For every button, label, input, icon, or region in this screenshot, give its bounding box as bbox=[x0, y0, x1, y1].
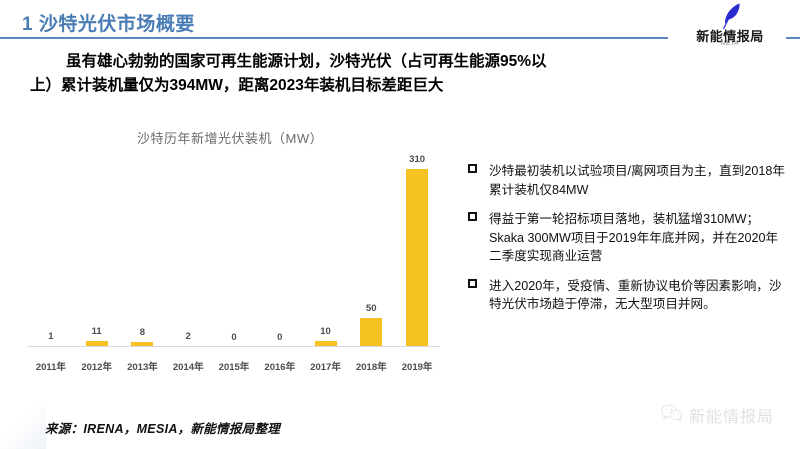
chart-bar bbox=[406, 169, 428, 347]
bar-column: 02016年 bbox=[257, 152, 303, 347]
x-axis-tick-label: 2017年 bbox=[310, 359, 341, 373]
x-axis-tick-label: 2018年 bbox=[356, 359, 387, 373]
insight-bullet-item: 得益于第一轮招标项目落地，装机猛增310MW；Skaka 300MW项目于201… bbox=[468, 210, 786, 266]
bar-column: 22014年 bbox=[165, 152, 211, 347]
square-bullet-icon bbox=[468, 212, 477, 221]
chart-x-axis bbox=[28, 346, 440, 347]
chart-bar bbox=[360, 318, 382, 347]
chart-plot-area: 12011年112012年82013年22014年02015年02016年102… bbox=[28, 152, 440, 347]
bar-value-label: 1 bbox=[48, 331, 53, 342]
bar-value-label: 0 bbox=[277, 332, 282, 343]
bar-value-label: 11 bbox=[92, 326, 102, 337]
source-note: 来源：IRENA，MESIA，新能情报局整理 bbox=[45, 418, 280, 437]
header-rule-right bbox=[786, 37, 800, 39]
wechat-watermark: 新能情报局 bbox=[661, 403, 774, 427]
x-axis-tick-label: 2011年 bbox=[36, 359, 66, 373]
bar-chart: 12011年112012年82013年22014年02015年02016年102… bbox=[18, 152, 448, 377]
bar-column: 502018年 bbox=[348, 152, 394, 347]
chart-title: 沙特历年新增光伏装机（MW） bbox=[137, 128, 323, 147]
brand-logo: 新能情报局 NEIA bbox=[676, 2, 784, 50]
bar-value-label: 10 bbox=[320, 326, 331, 337]
logo-subtext: NEIA bbox=[676, 41, 784, 47]
bar-column: 102017年 bbox=[303, 152, 349, 347]
bar-value-label: 2 bbox=[186, 331, 191, 342]
insight-bullet-item: 进入2020年，受疫情、重新协议电价等因素影响，沙特光伏市场趋于停滞，无大型项目… bbox=[468, 277, 786, 314]
bar-column: 3102019年 bbox=[394, 152, 440, 347]
insight-bullet-text: 得益于第一轮招标项目落地，装机猛增310MW；Skaka 300MW项目于201… bbox=[489, 212, 778, 263]
subtitle-line-1: 虽有雄心勃勃的国家可再生能源计划，沙特光伏（占可再生能源95%以 bbox=[30, 50, 770, 74]
wechat-icon bbox=[661, 404, 683, 427]
page-title: 1 沙特光伏市场概要 bbox=[22, 9, 195, 36]
insight-bullet-text: 进入2020年，受疫情、重新协议电价等因素影响，沙特光伏市场趋于停滞，无大型项目… bbox=[489, 279, 782, 312]
insight-bullet-item: 沙特最初装机以试验项目/离网项目为主，直到2018年累计装机仅84MW bbox=[468, 162, 786, 199]
x-axis-tick-label: 2014年 bbox=[173, 359, 204, 373]
header-rule bbox=[0, 37, 668, 39]
slide-subtitle: 虽有雄心勃勃的国家可再生能源计划，沙特光伏（占可再生能源95%以 上）累计装机量… bbox=[30, 50, 770, 98]
corner-tint bbox=[0, 407, 46, 449]
square-bullet-icon bbox=[468, 279, 477, 288]
insight-bullet-list: 沙特最初装机以试验项目/离网项目为主，直到2018年累计装机仅84MW得益于第一… bbox=[468, 162, 786, 325]
bar-column: 82013年 bbox=[120, 152, 166, 347]
bar-value-label: 50 bbox=[366, 303, 377, 314]
x-axis-tick-label: 2015年 bbox=[219, 359, 250, 373]
x-axis-tick-label: 2016年 bbox=[264, 359, 295, 373]
bar-column: 112012年 bbox=[74, 152, 120, 347]
x-axis-tick-label: 2019年 bbox=[402, 359, 433, 373]
square-bullet-icon bbox=[468, 164, 477, 173]
subtitle-line-2: 上）累计装机量仅为394MW，距离2023年装机目标差距巨大 bbox=[30, 74, 770, 98]
x-axis-tick-label: 2013年 bbox=[127, 359, 158, 373]
bar-value-label: 310 bbox=[409, 154, 425, 165]
slide: 1 沙特光伏市场概要 新能情报局 NEIA 虽有雄心勃勃的国家可再生能源计划，沙… bbox=[0, 0, 800, 449]
bar-column: 02015年 bbox=[211, 152, 257, 347]
bar-value-label: 0 bbox=[231, 332, 236, 343]
bar-value-label: 8 bbox=[140, 327, 145, 338]
x-axis-tick-label: 2012年 bbox=[81, 359, 112, 373]
watermark-label: 新能情报局 bbox=[689, 403, 774, 427]
insight-bullet-text: 沙特最初装机以试验项目/离网项目为主，直到2018年累计装机仅84MW bbox=[489, 164, 785, 197]
bar-column: 12011年 bbox=[28, 152, 74, 347]
